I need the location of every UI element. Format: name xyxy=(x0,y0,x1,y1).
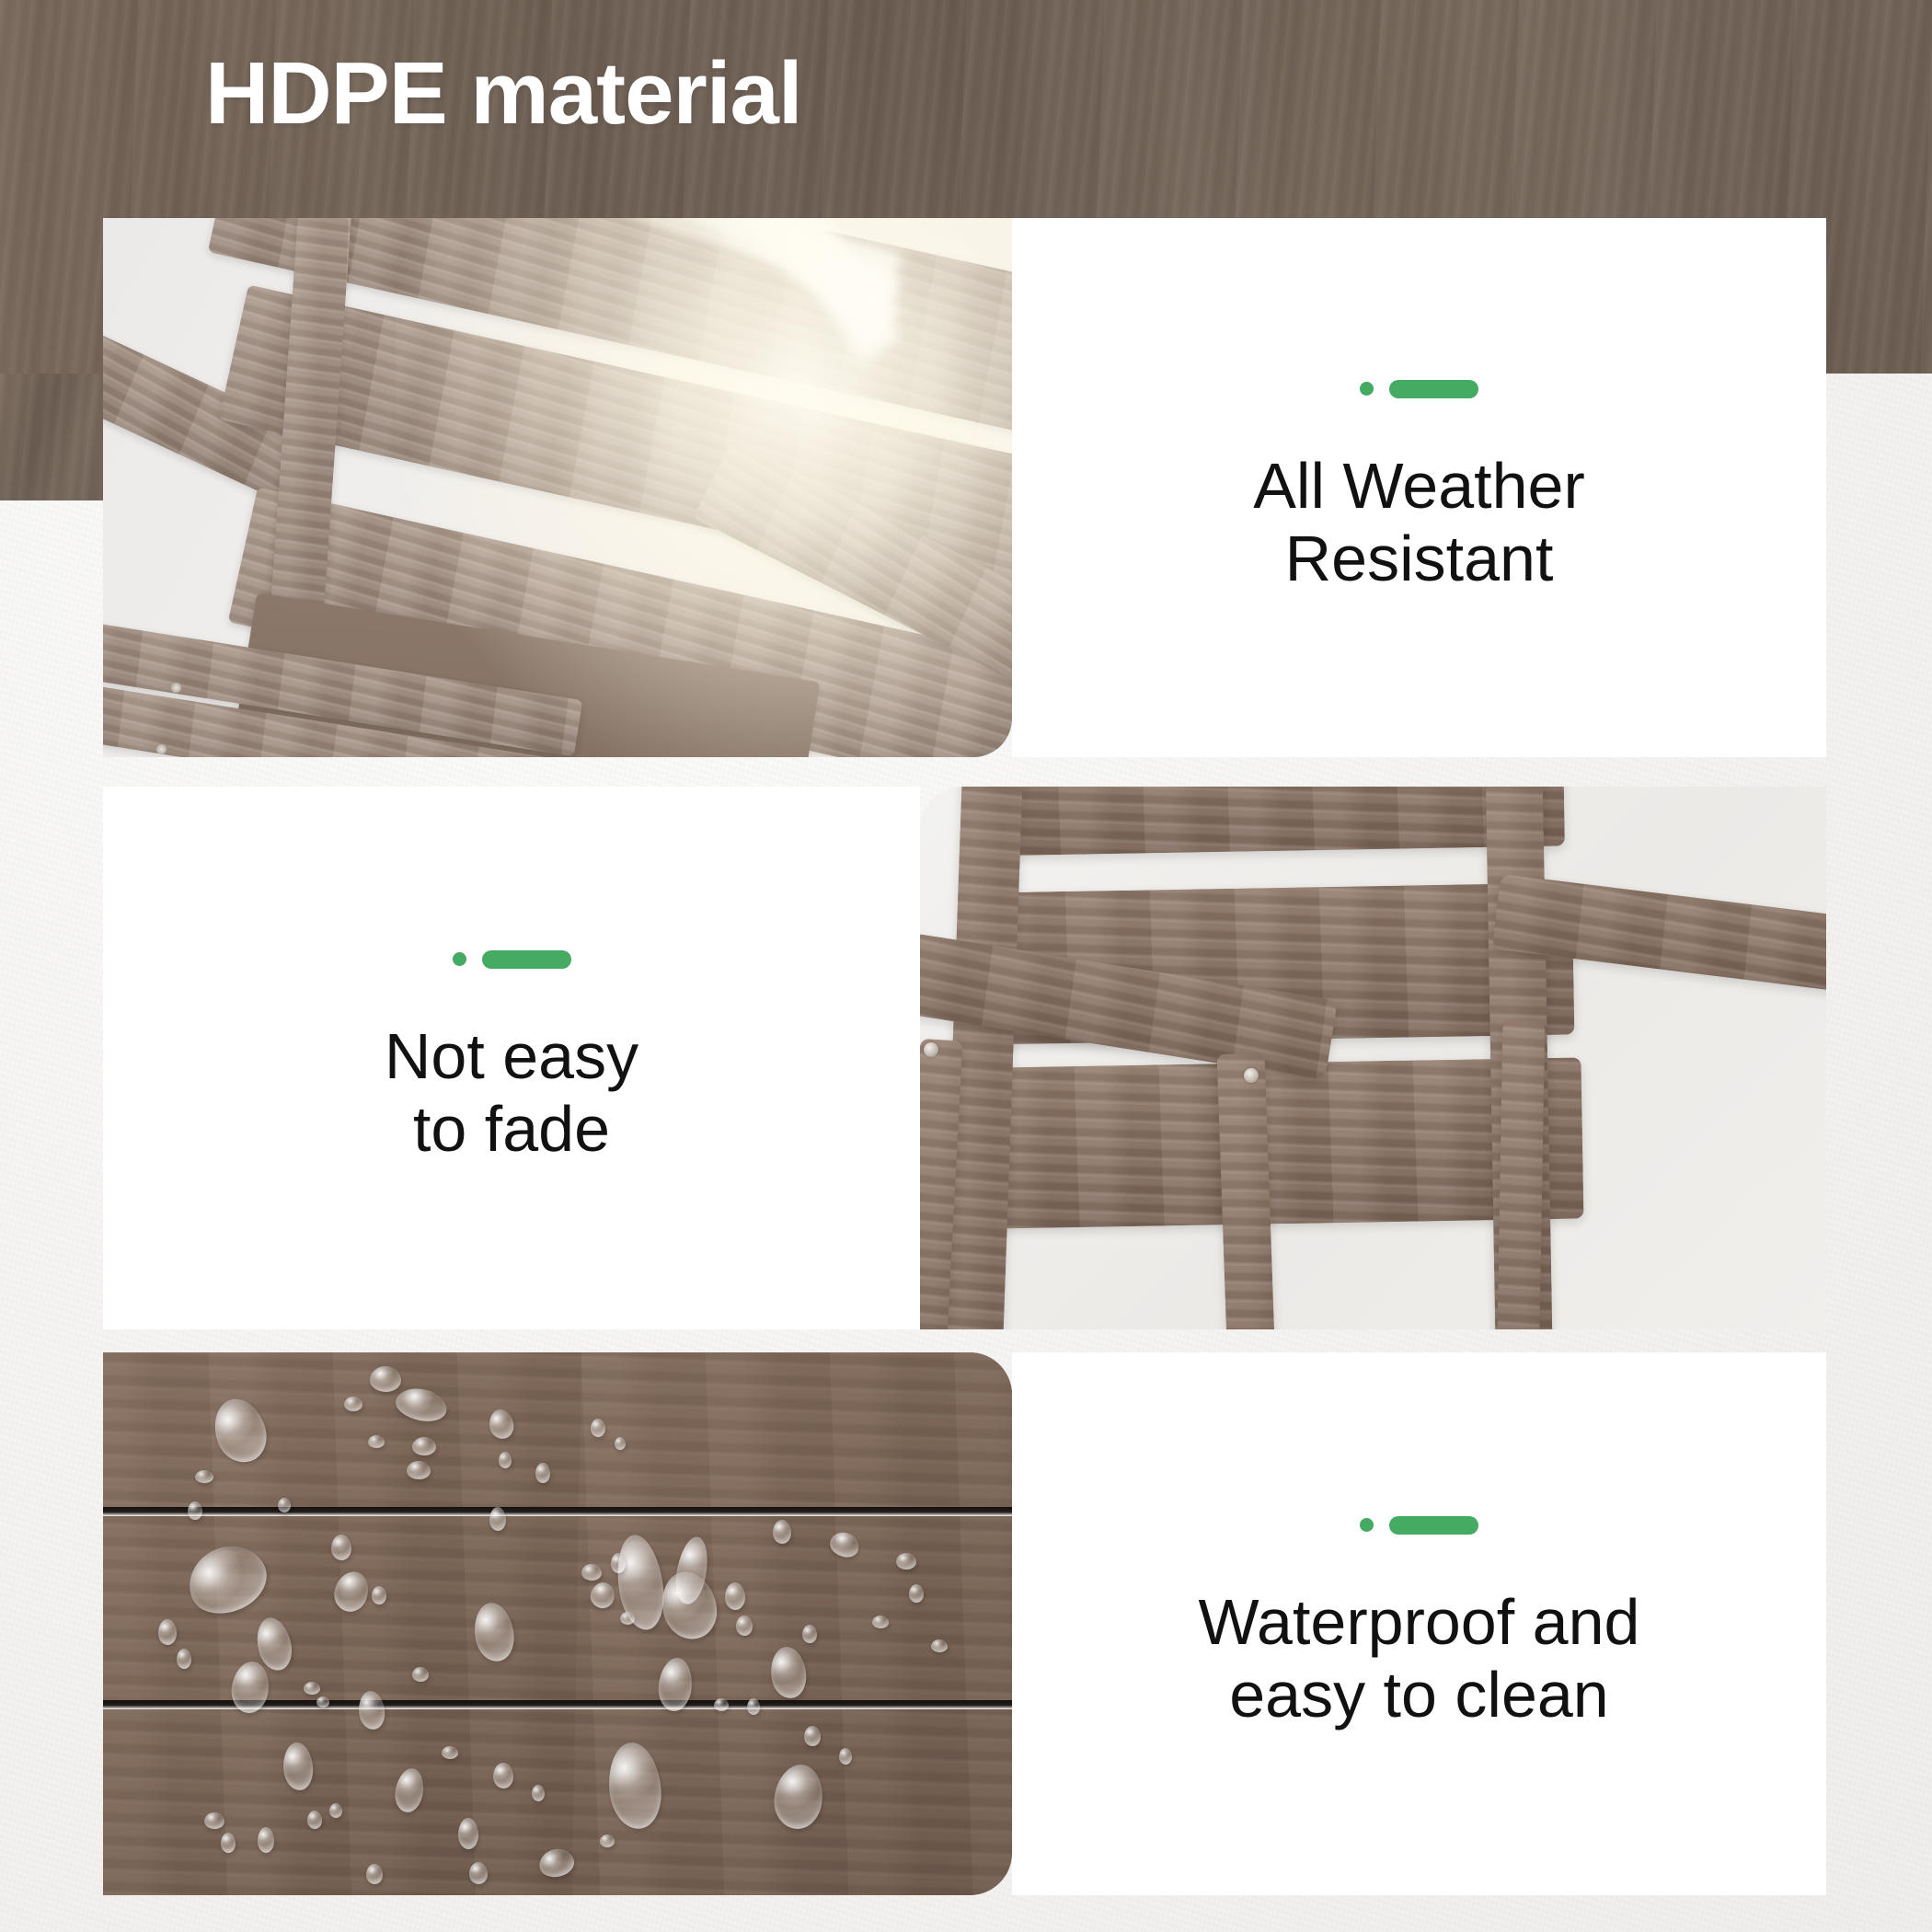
screw-icon xyxy=(171,683,181,693)
water-droplet xyxy=(802,1625,817,1643)
water-droplet xyxy=(604,1740,665,1831)
water-droplet xyxy=(770,1762,826,1833)
water-droplet xyxy=(368,1435,385,1448)
water-droplet xyxy=(258,1827,274,1853)
water-droplet xyxy=(487,1408,515,1441)
screw-icon xyxy=(156,744,167,754)
water-droplet xyxy=(872,1616,889,1628)
water-droplet xyxy=(282,1742,315,1791)
water-droplet xyxy=(207,1392,274,1468)
water-droplet xyxy=(412,1667,429,1682)
feature-headline-not-fade: Not easy to fade xyxy=(385,1020,638,1166)
chair-back-slat-top xyxy=(974,787,1565,857)
marker-dash xyxy=(1389,1516,1478,1535)
water-droplet xyxy=(804,1726,821,1746)
feature-text-waterproof: Waterproof and easy to clean xyxy=(1012,1352,1826,1895)
water-droplet xyxy=(615,1437,626,1450)
feature-image-waterproof xyxy=(103,1352,1012,1895)
marker-dot xyxy=(1360,382,1374,396)
water-droplet xyxy=(372,1586,386,1604)
water-droplet xyxy=(195,1470,213,1483)
marker-dot xyxy=(1360,1518,1374,1532)
feature-headline-all-weather: All Weather Resistant xyxy=(1253,450,1585,595)
feature-text-all-weather: All Weather Resistant xyxy=(1012,218,1826,757)
water-droplet xyxy=(536,1846,577,1880)
feature-text-not-fade: Not easy to fade xyxy=(103,787,920,1329)
water-droplet xyxy=(773,1520,791,1544)
water-droplets-on-deck-illustration xyxy=(103,1352,1012,1895)
water-droplet xyxy=(588,1580,618,1611)
feature-image-not-fade xyxy=(920,787,1826,1329)
water-droplet xyxy=(178,1534,277,1626)
water-droplet xyxy=(407,1461,431,1479)
feature-headline-waterproof: Waterproof and easy to clean xyxy=(1199,1586,1640,1731)
water-droplet xyxy=(725,1582,745,1610)
water-droplet xyxy=(600,1834,615,1847)
water-droplet xyxy=(714,1698,729,1711)
water-droplet xyxy=(532,1785,545,1801)
water-droplet xyxy=(366,1864,383,1884)
page-title: HDPE material xyxy=(205,48,802,141)
water-droplet xyxy=(329,1803,342,1818)
water-droplet xyxy=(370,1366,401,1392)
water-droplet xyxy=(535,1463,550,1483)
water-droplet xyxy=(344,1397,362,1411)
marker-dash xyxy=(482,950,571,969)
water-droplet xyxy=(736,1616,753,1636)
water-droplet xyxy=(747,1698,760,1715)
marker-dash xyxy=(1389,380,1478,398)
water-droplet xyxy=(316,1696,329,1708)
wood-band-left-step xyxy=(0,374,103,500)
water-droplet xyxy=(827,1528,863,1560)
screw-icon xyxy=(1244,1068,1259,1083)
water-droplet xyxy=(611,1553,626,1573)
water-droplet xyxy=(442,1746,458,1759)
green-dot-dash-icon xyxy=(1360,1516,1478,1535)
chair-armrest-closeup-illustration xyxy=(920,787,1826,1329)
water-droplet xyxy=(471,1600,517,1663)
screw-icon xyxy=(924,1042,938,1057)
water-droplet xyxy=(839,1748,852,1765)
green-dot-dash-icon xyxy=(453,950,571,969)
water-droplet xyxy=(158,1619,177,1645)
water-droplet xyxy=(931,1639,948,1652)
water-droplet xyxy=(493,1763,513,1788)
sunlight-glow xyxy=(396,218,1012,757)
water-droplet xyxy=(591,1419,605,1437)
deck-plank-gap xyxy=(103,1507,1012,1516)
water-droplet xyxy=(581,1564,602,1581)
water-droplet xyxy=(177,1649,191,1669)
water-droplet xyxy=(204,1812,224,1829)
water-droplet xyxy=(412,1437,436,1455)
marker-dot xyxy=(453,952,466,966)
water-droplet xyxy=(278,1498,291,1512)
water-droplet xyxy=(499,1452,512,1468)
water-droplet xyxy=(896,1553,916,1570)
feature-image-all-weather xyxy=(103,218,1012,757)
water-droplet xyxy=(489,1507,506,1531)
chair-back-sunlight-illustration xyxy=(103,218,1012,757)
water-droplet xyxy=(307,1811,322,1829)
water-droplet xyxy=(768,1645,809,1700)
water-droplet xyxy=(655,1566,723,1645)
green-dot-dash-icon xyxy=(1360,380,1478,398)
water-droplet xyxy=(469,1862,488,1884)
water-droplet xyxy=(458,1818,478,1849)
water-droplet xyxy=(392,1766,427,1814)
water-droplet xyxy=(221,1833,236,1853)
water-droplet xyxy=(393,1385,450,1426)
water-droplet xyxy=(188,1501,202,1520)
water-droplet xyxy=(304,1682,320,1695)
water-droplet xyxy=(620,1612,635,1625)
water-droplet xyxy=(329,1568,374,1616)
water-droplet xyxy=(909,1584,924,1603)
water-droplet xyxy=(357,1690,386,1731)
chair-arm-support-right xyxy=(1497,1021,1546,1329)
water-droplet xyxy=(331,1535,351,1560)
